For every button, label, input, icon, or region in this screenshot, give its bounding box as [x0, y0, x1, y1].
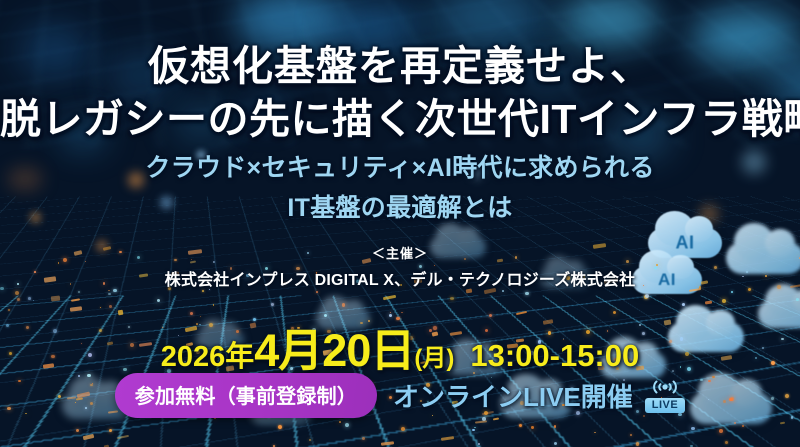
host-label: ＜主催＞ [0, 243, 800, 262]
banner-content: 仮想化基盤を再定義せよ、 脱レガシーの先に描く次世代ITインフラ戦略 クラウド×… [0, 0, 800, 447]
free-registration-badge[interactable]: 参加無料（事前登録制） [115, 373, 377, 418]
online-live-label: オンラインLIVE開催 [393, 377, 633, 414]
banner-title-line-2: 脱レガシーの先に描く次世代ITインフラ戦略 [0, 85, 800, 145]
live-broadcast-icon: LIVE [645, 378, 685, 413]
broadcast-dot-icon [662, 384, 667, 389]
banner-footer: 参加無料（事前登録制） オンラインLIVE開催 LIVE [0, 373, 800, 418]
event-day-of-week: (月) [414, 338, 454, 373]
live-pill-label: LIVE [645, 398, 685, 413]
broadcast-wave-icon [648, 378, 682, 396]
banner-subtitle-line-1: クラウド×セキュリティ×AI時代に求められる [0, 148, 800, 184]
webinar-banner: AIAI 仮想化基盤を再定義せよ、 脱レガシーの先に描く次世代ITインフラ戦略 … [0, 0, 800, 447]
banner-title-line-1: 仮想化基盤を再定義せよ、 [0, 32, 800, 92]
banner-subtitle-line-2: IT基盤の最適解とは [0, 188, 800, 224]
event-year: 2026年 [161, 333, 255, 375]
host-organizations: 株式会社インプレス DIGITAL X、デル・テクノロジーズ株式会社 [0, 266, 800, 290]
event-schedule: 2026年 4月20日 (月) 13:00-15:00 [0, 314, 800, 379]
event-time: 13:00-15:00 [470, 338, 639, 374]
event-date: 4月20日 [254, 314, 414, 379]
